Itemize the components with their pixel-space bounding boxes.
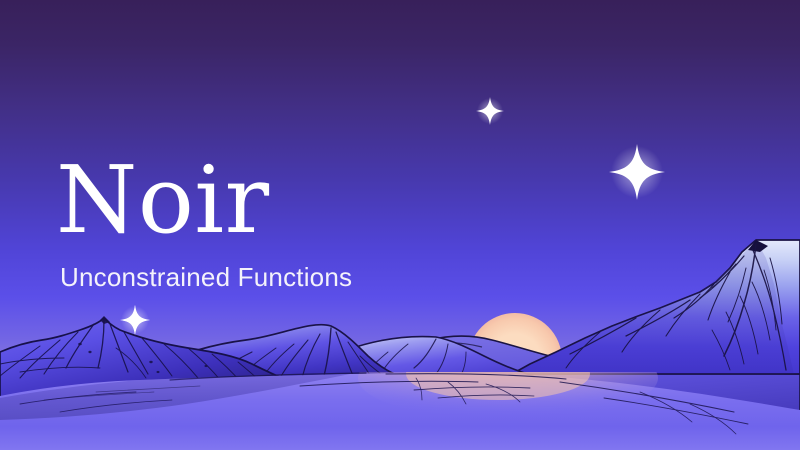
title-slide: Noir Unconstrained Functions xyxy=(0,0,800,450)
mountain-sunset-illustration xyxy=(0,0,800,450)
